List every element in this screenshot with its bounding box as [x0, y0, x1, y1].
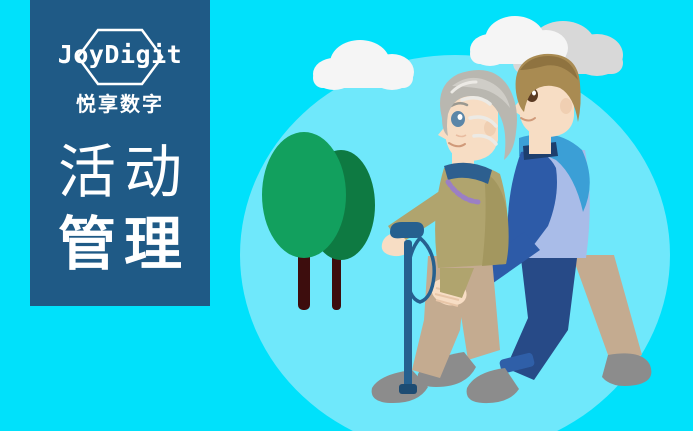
brand-logo: JoyDigit 悦享数字 — [30, 26, 210, 116]
page-title-line1: 活动 — [30, 136, 210, 208]
page-title-line2: 管理 — [30, 208, 210, 280]
banner-canvas: JoyDigit 悦享数字 活动 管理 — [0, 0, 693, 431]
young-man-back-shoe — [602, 353, 651, 386]
elder-eye — [451, 111, 465, 127]
logo-hexagon-wrapper: JoyDigit — [30, 26, 210, 88]
logo-wordmark: JoyDigit — [30, 40, 210, 70]
title-panel: JoyDigit 悦享数字 活动 管理 — [30, 0, 210, 306]
cloud-front — [313, 40, 414, 90]
page-title: 活动 管理 — [30, 136, 210, 280]
logo-chinese-name: 悦享数字 — [30, 92, 210, 116]
